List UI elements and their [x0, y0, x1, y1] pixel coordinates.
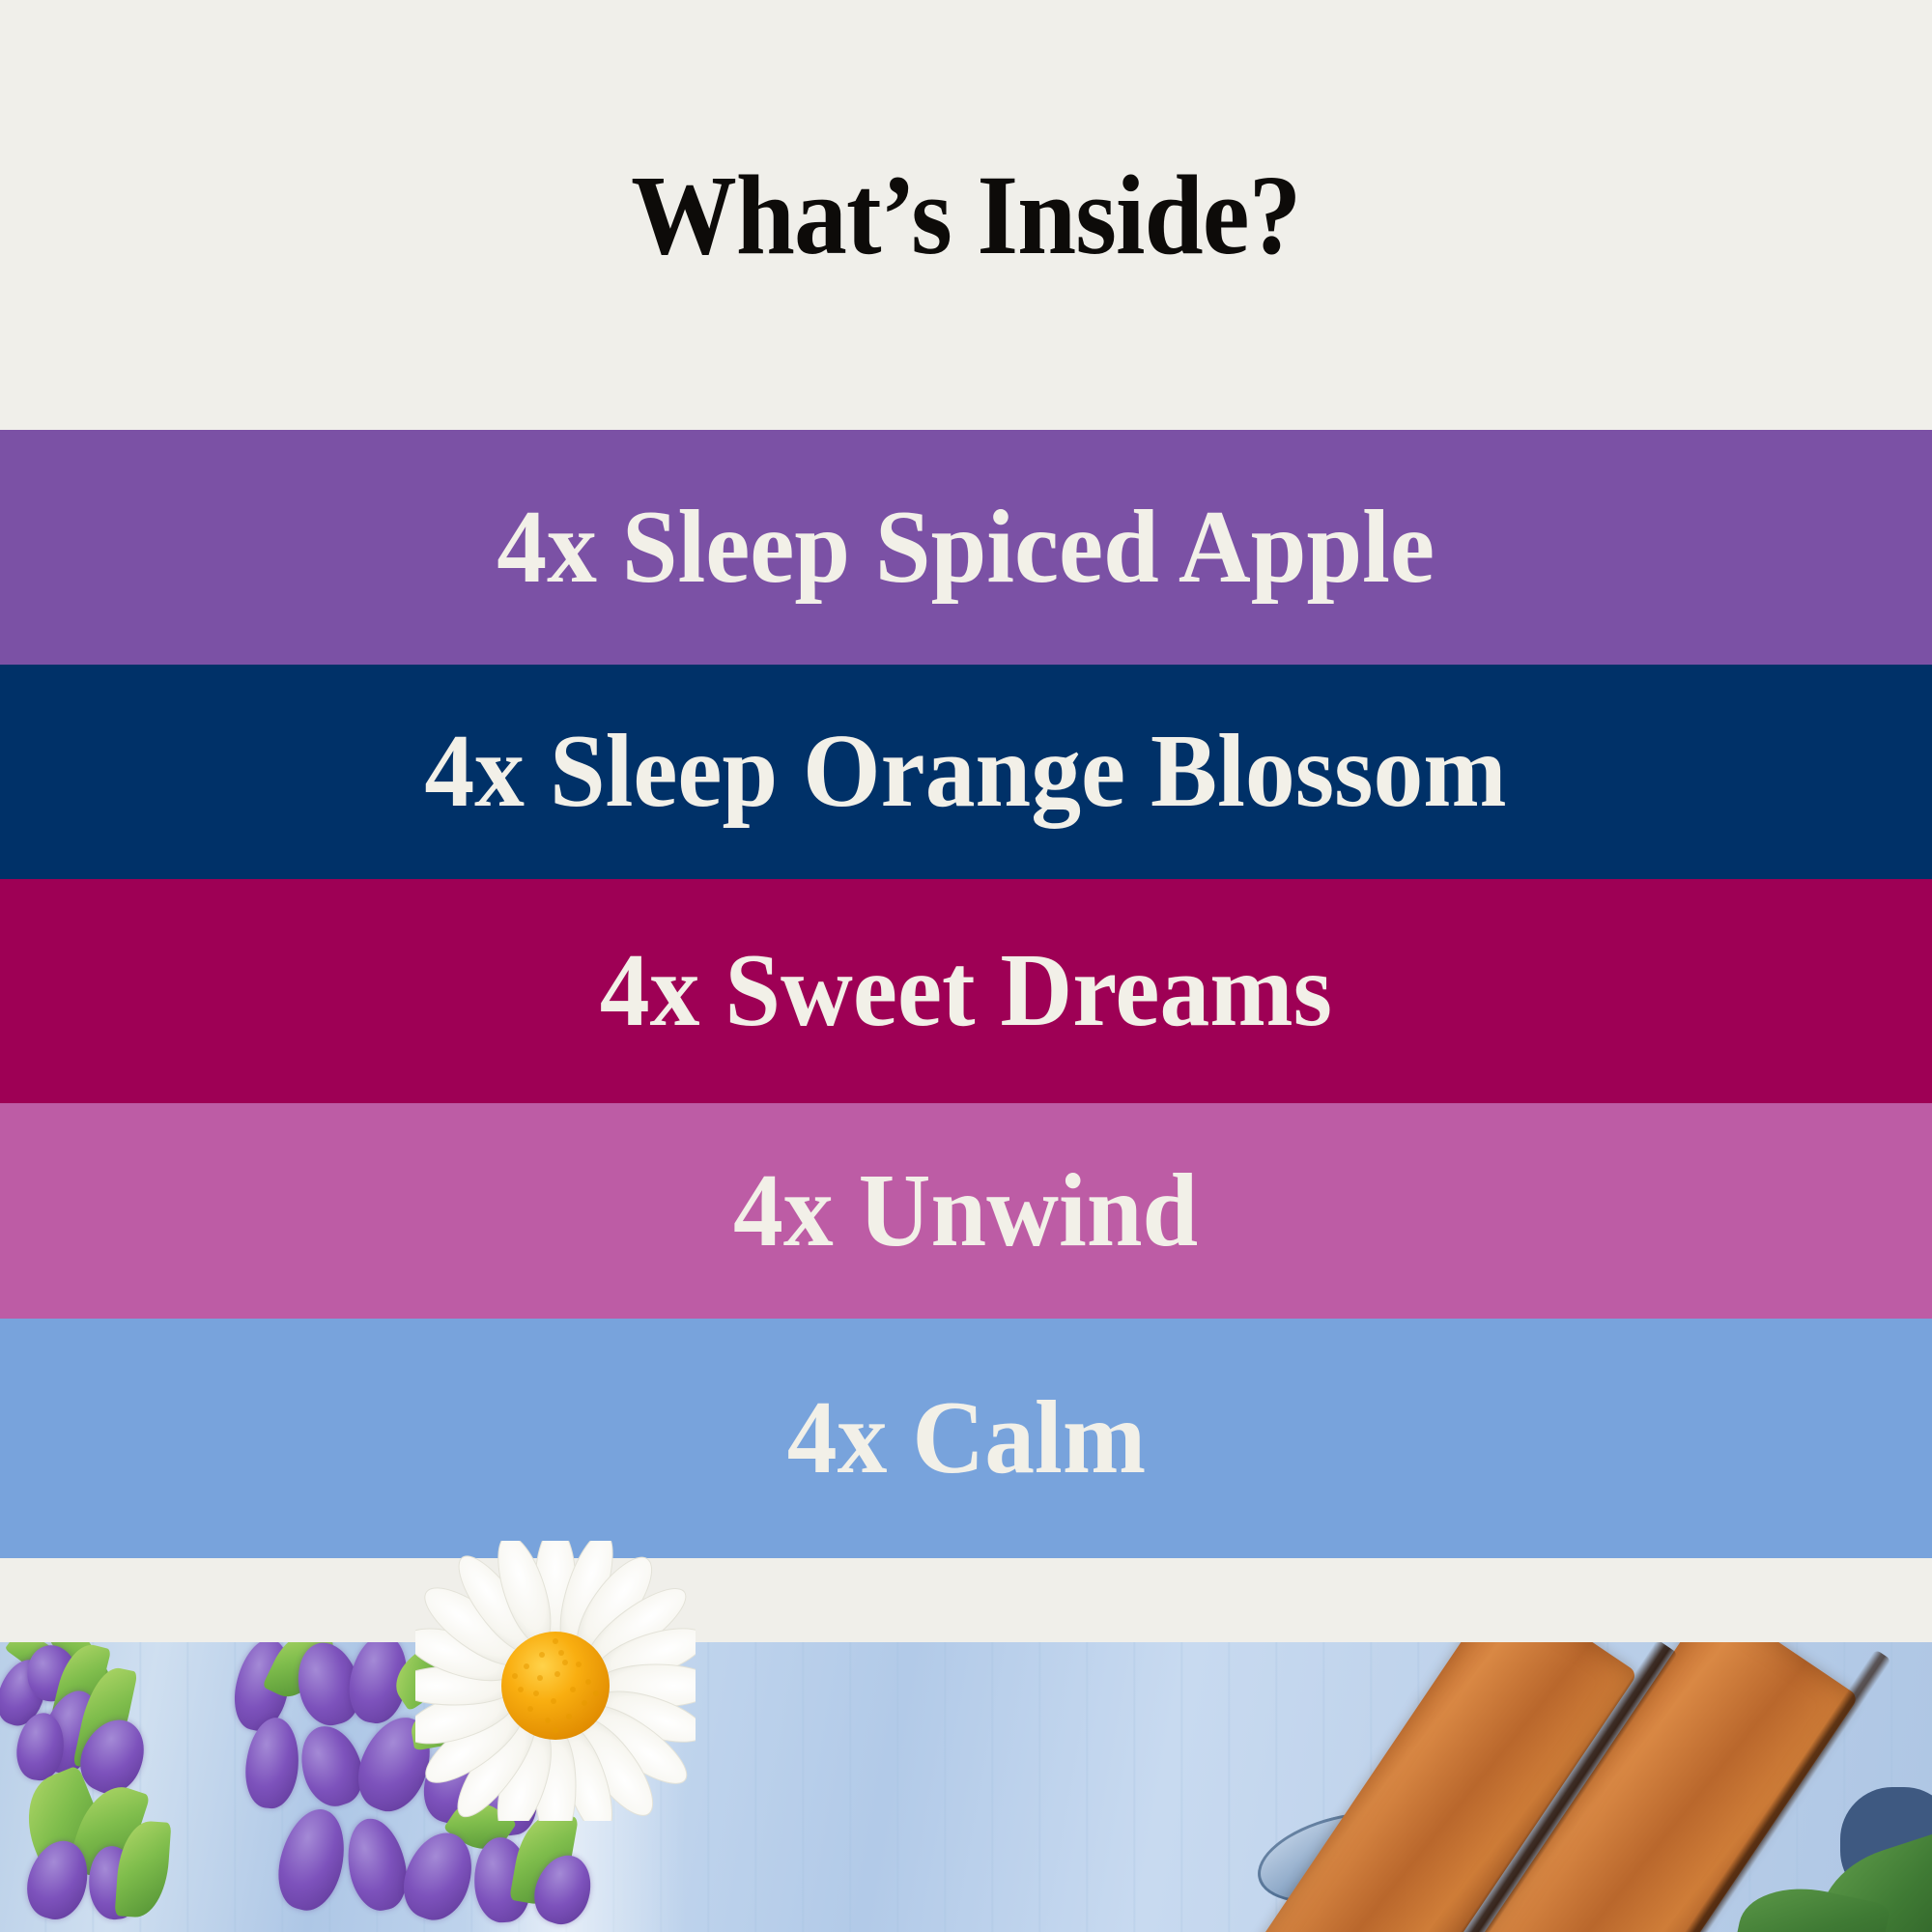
page-title: What’s Inside? [631, 158, 1300, 272]
product-band-label: 4x Sleep Orange Blossom [425, 720, 1507, 824]
product-band-label: 4x Sleep Spiced Apple [497, 496, 1435, 600]
product-band-sleep-spiced-apple: 4x Sleep Spiced Apple [0, 430, 1932, 665]
product-band-sleep-orange-blossom: 4x Sleep Orange Blossom [0, 665, 1932, 879]
product-band-label: 4x Sweet Dreams [600, 939, 1332, 1043]
poster-canvas: What’s Inside? 4x Sleep Spiced Apple 4x … [0, 0, 1932, 1932]
bottom-photo-strip [0, 1642, 1932, 1932]
title-area: What’s Inside? [0, 0, 1932, 430]
product-band-label: 4x Unwind [733, 1159, 1198, 1264]
product-band-calm: 4x Calm [0, 1319, 1932, 1558]
product-band-label: 4x Calm [786, 1386, 1145, 1491]
product-band-unwind: 4x Unwind [0, 1103, 1932, 1319]
cream-spacer [0, 1558, 1932, 1642]
daisy-flower [415, 1541, 696, 1821]
product-band-sweet-dreams: 4x Sweet Dreams [0, 879, 1932, 1103]
